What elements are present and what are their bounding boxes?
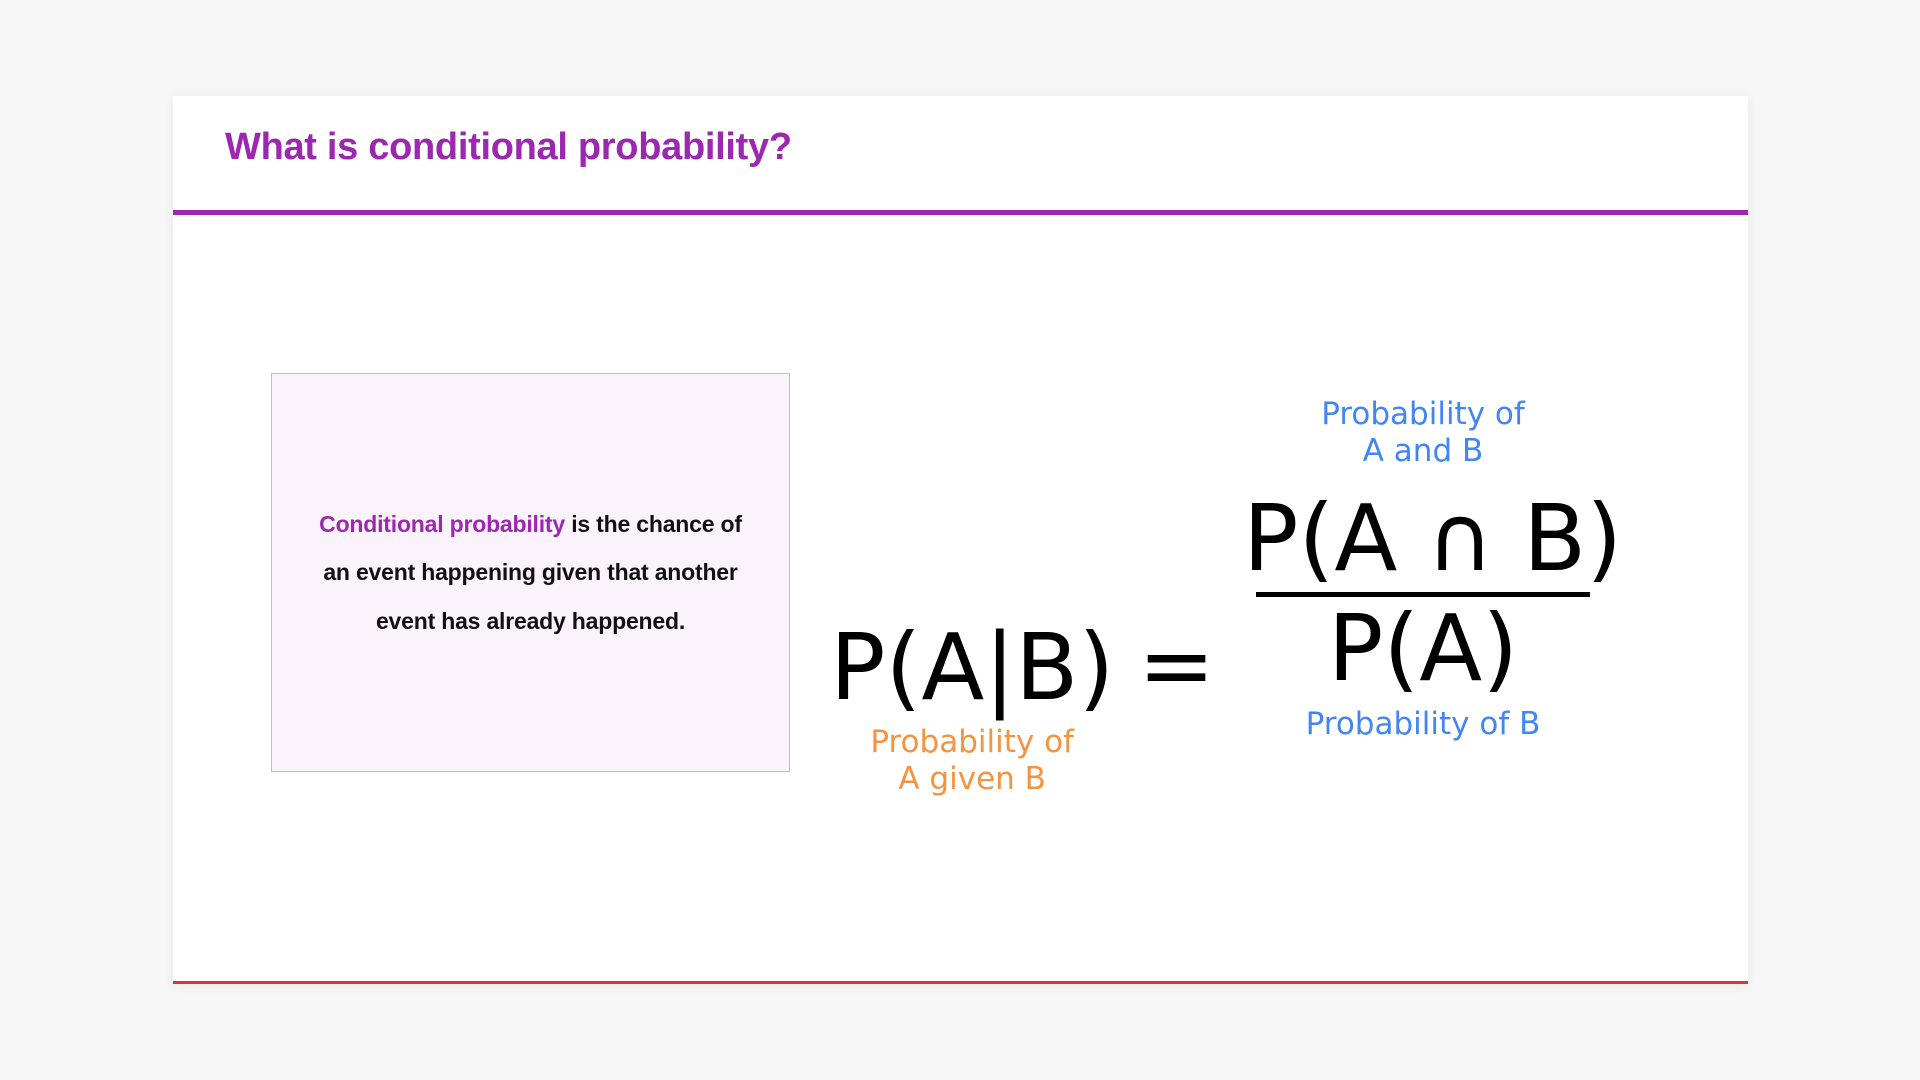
numerator-caption: Probability of A and B [1243,396,1603,469]
lhs-expression: P(A|B) [830,622,1114,714]
title-divider [173,210,1748,215]
fraction-group: Probability of A and B P(A ∩ B) P(A) Pro… [1243,396,1603,742]
fraction-denominator: P(A) [1243,597,1603,700]
definition-text: Conditional probability is the chance of… [316,500,746,645]
formula-zone: P(A|B) Probability of A given B = Probab… [790,296,1740,916]
definition-term: Conditional probability [319,511,565,537]
fraction-numerator: P(A ∩ B) [1243,491,1603,588]
fraction: P(A ∩ B) P(A) [1243,491,1603,700]
page-title: What is conditional probability? [225,126,792,169]
lhs-caption: Probability of A given B [830,724,1114,797]
denominator-caption: Probability of B [1243,706,1603,743]
conditional-probability-term: P(A|B) Probability of A given B [830,622,1114,797]
definition-callout-box: Conditional probability is the chance of… [271,373,790,772]
slide-header: What is conditional probability? [173,96,1748,210]
slide-card: What is conditional probability? Conditi… [173,96,1748,984]
equals-sign: = [1138,620,1215,712]
